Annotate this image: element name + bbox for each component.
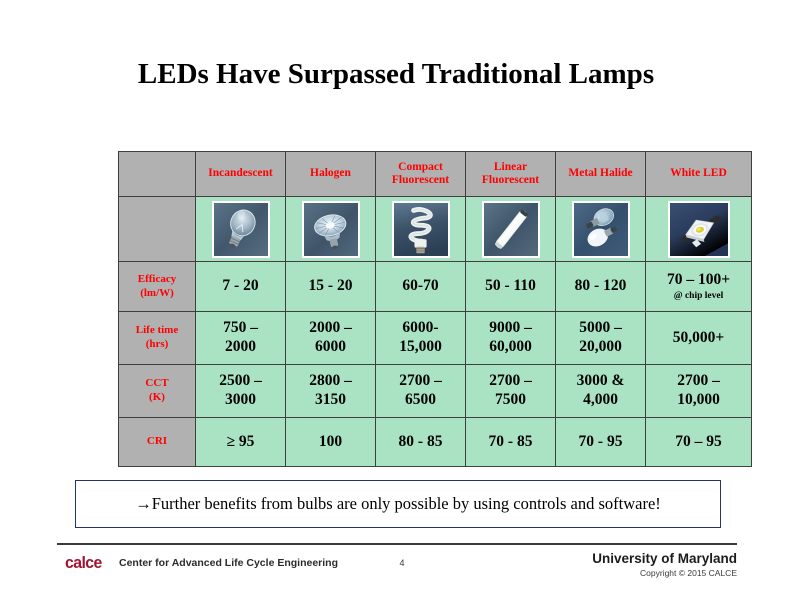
cell-life-white-led: 50,000+ [646, 312, 752, 365]
cell-life-metal-halide: 5000 – 20,000 [556, 312, 646, 365]
row-label-line1: CCT [145, 377, 168, 389]
cell-life-compact-fluorescent: 6000- 15,000 [376, 312, 466, 365]
university-name: University of Maryland [592, 551, 737, 566]
row-label-line2: (hrs) [146, 338, 169, 350]
cell-cct-compact-fluorescent: 2700 – 6500 [376, 365, 466, 418]
row-label-cct: CCT (K) [119, 365, 196, 418]
cell-cct-halogen: 2800 – 3150 [286, 365, 376, 418]
cell-life-incandescent: 750 – 2000 [196, 312, 286, 365]
callout-text: →Further benefits from bulbs are only po… [119, 494, 677, 515]
copyright-notice: Copyright © 2015 CALCE [640, 568, 737, 578]
cell-cri-compact-fluorescent: 80 - 85 [376, 418, 466, 467]
cell-line2: 20,000 [579, 338, 622, 355]
footer: calce Center for Advanced Life Cycle Eng… [57, 549, 737, 589]
cell-line2: 6000 [315, 338, 346, 355]
compact-fluorescent-spiral-photo [392, 201, 450, 258]
cell-photo-halogen [286, 197, 376, 262]
column-header-white-led: White LED [646, 152, 752, 197]
page-title: LEDs Have Surpassed Traditional Lamps [0, 58, 792, 91]
cell-line1: 2700 – [399, 372, 442, 389]
column-header-linear-fluorescent: Linear Fluorescent [466, 152, 556, 197]
cell-line2: 7500 [495, 391, 526, 408]
cell-line1: 2700 – [677, 372, 720, 389]
row-label-line1: Life time [136, 324, 178, 336]
cell-cct-metal-halide: 3000 & 4,000 [556, 365, 646, 418]
cell-cct-linear-fluorescent: 2700 – 7500 [466, 365, 556, 418]
cell-life-linear-fluorescent: 9000 – 60,000 [466, 312, 556, 365]
image-row-corner [119, 197, 196, 262]
cell-photo-white-led [646, 197, 752, 262]
row-label-line1: Efficacy [138, 273, 176, 285]
table-row-life-time: Life time (hrs) 750 – 2000 2000 – 6000 6… [119, 312, 752, 365]
linear-fluorescent-tube-photo [482, 201, 540, 258]
cell-photo-metal-halide [556, 197, 646, 262]
column-header-line2: Fluorescent [482, 174, 539, 186]
cell-line1: 2800 – [309, 372, 352, 389]
lamp-comparison-table: Incandescent Halogen Compact Fluorescent… [118, 151, 752, 467]
cell-cct-incandescent: 2500 – 3000 [196, 365, 286, 418]
row-label-line2: (K) [149, 391, 165, 403]
row-label-efficacy: Efficacy (lm/W) [119, 262, 196, 312]
table-row-efficacy: Efficacy (lm/W) 7 - 20 15 - 20 60-70 50 … [119, 262, 752, 312]
cell-line2: 60,000 [489, 338, 532, 355]
calce-tagline: Center for Advanced Life Cycle Engineeri… [119, 557, 338, 569]
cell-value-note: @ chip level [646, 291, 751, 301]
table-row-cri: CRI ≥ 95 100 80 - 85 70 - 85 70 - 95 70 … [119, 418, 752, 467]
column-header-line1: Compact [398, 161, 443, 173]
cell-photo-compact-fluorescent [376, 197, 466, 262]
column-header-metal-halide: Metal Halide [556, 152, 646, 197]
halogen-reflector-lamp-photo [302, 201, 360, 258]
incandescent-bulb-photo [212, 201, 270, 258]
cell-line2: 10,000 [677, 391, 720, 408]
cell-line1: 9000 – [489, 319, 532, 336]
cell-line2: 15,000 [399, 338, 442, 355]
cell-efficacy-compact-fluorescent: 60-70 [376, 262, 466, 312]
metal-halide-lamp-photo [572, 201, 630, 258]
cell-efficacy-halogen: 15 - 20 [286, 262, 376, 312]
cell-photo-linear-fluorescent [466, 197, 556, 262]
cell-line2: 3150 [315, 391, 346, 408]
cell-cri-metal-halide: 70 - 95 [556, 418, 646, 467]
cell-line2: 2000 [225, 338, 256, 355]
cell-line1: 3000 & [577, 372, 625, 389]
white-led-chip-photo [668, 201, 730, 258]
page-number: 4 [387, 558, 417, 568]
cell-cri-halogen: 100 [286, 418, 376, 467]
cell-line2: 6500 [405, 391, 436, 408]
cell-line1: 6000- [402, 319, 438, 336]
cell-value: 70 – 100+ [667, 271, 730, 288]
cell-cri-incandescent: ≥ 95 [196, 418, 286, 467]
cell-line1: 2700 – [489, 372, 532, 389]
column-header-line1: Linear [494, 161, 527, 173]
table-row-cct: CCT (K) 2500 – 3000 2800 – 3150 2700 – 6… [119, 365, 752, 418]
cell-line1: 5000 – [579, 319, 622, 336]
cell-line1: 750 – [223, 319, 258, 336]
cell-line2: 4,000 [583, 391, 618, 408]
callout-box: →Further benefits from bulbs are only po… [75, 480, 721, 528]
cell-cri-linear-fluorescent: 70 - 85 [466, 418, 556, 467]
cell-line2: 3000 [225, 391, 256, 408]
row-label-life-time: Life time (hrs) [119, 312, 196, 365]
footer-divider [57, 543, 737, 545]
row-label-cri: CRI [119, 418, 196, 467]
cell-efficacy-metal-halide: 80 - 120 [556, 262, 646, 312]
cell-cct-white-led: 2700 – 10,000 [646, 365, 752, 418]
cell-line1: 2000 – [309, 319, 352, 336]
table-header-corner [119, 152, 196, 197]
table-image-row [119, 197, 752, 262]
cell-line1: 2500 – [219, 372, 262, 389]
column-header-compact-fluorescent: Compact Fluorescent [376, 152, 466, 197]
cell-cri-white-led: 70 – 95 [646, 418, 752, 467]
cell-life-halogen: 2000 – 6000 [286, 312, 376, 365]
column-header-halogen: Halogen [286, 152, 376, 197]
cell-efficacy-linear-fluorescent: 50 - 110 [466, 262, 556, 312]
calce-logo: calce [65, 553, 102, 573]
cell-photo-incandescent [196, 197, 286, 262]
column-header-incandescent: Incandescent [196, 152, 286, 197]
column-header-line2: Fluorescent [392, 174, 449, 186]
row-label-line2: (lm/W) [140, 287, 174, 299]
cell-efficacy-white-led: 70 – 100+ @ chip level [646, 262, 752, 312]
cell-efficacy-incandescent: 7 - 20 [196, 262, 286, 312]
table-header-row: Incandescent Halogen Compact Fluorescent… [119, 152, 752, 197]
